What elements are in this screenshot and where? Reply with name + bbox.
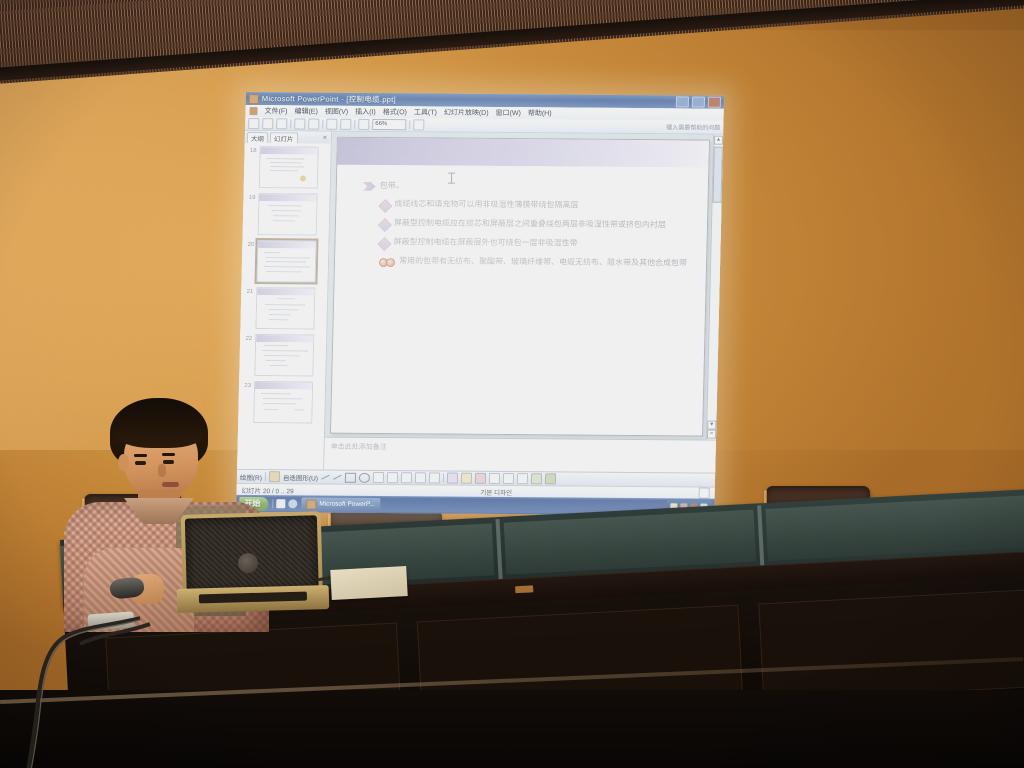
diamond-bullet-icon <box>377 237 391 251</box>
next-slide-icon[interactable]: ≡ <box>707 430 716 439</box>
scrollbar-thumb[interactable] <box>713 147 723 203</box>
powerpoint-icon <box>249 94 259 104</box>
eye-left <box>135 461 146 465</box>
tab-slides[interactable]: 幻灯片 <box>270 132 298 143</box>
restore-button[interactable] <box>692 97 705 108</box>
slide-thumbnail-selected[interactable] <box>257 240 317 282</box>
ask-a-question-box[interactable]: 键入需要帮助的问题 <box>666 122 720 131</box>
show-formatting-icon[interactable] <box>358 119 369 130</box>
rectangle-icon[interactable] <box>345 472 356 482</box>
notes-pane[interactable]: 单击此处添加备注 <box>324 437 716 473</box>
arrow-style-icon[interactable] <box>517 473 528 484</box>
window-title: Microsoft PowerPoint - [控制电缆.ppt] <box>262 93 396 105</box>
list-item[interactable]: 成缆线芯和填充物可以用非吸湿性薄膜带绕包隔离层 <box>380 199 697 213</box>
spell-check-icon[interactable] <box>699 488 710 499</box>
close-button[interactable] <box>708 97 721 108</box>
slide-thumbnail[interactable] <box>258 193 318 235</box>
word-art-icon[interactable] <box>387 472 398 483</box>
table-panel-3 <box>758 588 1024 702</box>
menu-item-slideshow[interactable]: 幻灯片放映(D) <box>444 108 489 118</box>
bullet-text: 成缆线芯和填充物可以用非吸湿性薄膜带绕包隔离层 <box>394 199 578 211</box>
previous-slide-icon[interactable]: ▼ <box>707 421 716 430</box>
bullet-text: 屏蔽型控制电缆在屏蔽层外也可绕包一层非吸湿性带 <box>393 237 577 249</box>
table-pad-3 <box>504 510 756 575</box>
table-badge <box>515 585 533 593</box>
ear <box>118 454 129 471</box>
line-icon[interactable] <box>321 475 329 480</box>
hair-front <box>116 414 204 448</box>
open-icon[interactable] <box>262 118 273 129</box>
eyebrow-right <box>162 453 175 456</box>
menu-item-file[interactable]: 文件(F) <box>264 106 287 116</box>
nose <box>158 464 166 477</box>
taskbar-item-label: Microsoft PowerP... <box>319 501 375 508</box>
line-style-icon[interactable] <box>489 473 500 484</box>
menu-item-insert[interactable]: 插入(I) <box>355 107 376 117</box>
slide-scroll-area: 包带。 成缆线芯和填充物可以用非吸湿性薄膜带绕包隔离层 屏蔽型控制电缆应在缆芯和… <box>325 132 723 440</box>
menu-item-window[interactable]: 窗口(W) <box>495 108 521 118</box>
slide-number: 22 <box>242 334 252 342</box>
arrow-bullet-icon <box>363 182 376 191</box>
toolbar-separator-3 <box>354 120 355 129</box>
clip-art-icon[interactable] <box>415 472 426 483</box>
list-item[interactable]: 19 <box>245 193 328 236</box>
menu-item-tools[interactable]: 工具(T) <box>414 107 437 117</box>
list-item[interactable]: 常用的包带有无纺布、聚酯带、玻璃纤维带、电缆无纺布、阻水带及其他合成包带 <box>379 256 696 269</box>
slide-number: 20 <box>244 240 254 248</box>
autoshapes-menu-button[interactable]: 自迭图形(U) <box>283 472 318 482</box>
toolbar-separator-2 <box>322 120 323 129</box>
list-item[interactable]: 20 <box>244 240 327 283</box>
print-icon[interactable] <box>294 118 305 129</box>
quick-launch-bar <box>272 499 297 508</box>
slide-body-text[interactable]: 包带。 成缆线芯和填充物可以用非吸湿性薄膜带绕包隔离层 屏蔽型控制电缆应在缆芯和… <box>331 165 708 436</box>
new-icon[interactable] <box>248 118 259 129</box>
eyebrow-left <box>134 454 147 457</box>
bullet-text: 常用的包带有无纺布、聚酯带、玻璃纤维带、电缆无纺布、阻水带及其他合成包带 <box>399 256 687 269</box>
diamond-bullet-icon <box>378 199 392 213</box>
slide-thumbnail[interactable] <box>254 334 314 376</box>
list-item[interactable]: 21 <box>242 287 325 330</box>
slide-number: 21 <box>243 287 253 295</box>
minimize-button[interactable] <box>676 96 689 107</box>
help-icon[interactable] <box>413 119 424 130</box>
fill-color-icon[interactable] <box>447 473 458 484</box>
projection-screen: Microsoft PowerPoint - [控制电缆.ppt] 文件(F) … <box>236 92 724 516</box>
close-pane-icon[interactable]: × <box>323 134 329 141</box>
slide-canvas[interactable]: 包带。 成缆线芯和填充物可以用非吸湿性薄膜带绕包隔离层 屏蔽型控制电缆应在缆芯和… <box>330 137 710 437</box>
bullet-text: 包带。 <box>380 181 404 192</box>
notepad[interactable] <box>330 566 407 600</box>
arrow-icon[interactable] <box>333 475 341 480</box>
text-box-icon[interactable] <box>373 472 384 483</box>
undo-icon[interactable] <box>308 118 319 129</box>
toolbar-separator-1 <box>290 119 291 128</box>
menu-item-help[interactable]: 帮助(H) <box>528 108 552 118</box>
oval-icon[interactable] <box>359 472 370 482</box>
slide-number: 19 <box>245 193 255 201</box>
slide-editing-pane: 包带。 成缆线芯和填充物可以用非吸湿性薄膜带绕包隔离层 屏蔽型控制电缆应在缆芯和… <box>324 132 723 473</box>
shadow-style-icon[interactable] <box>531 473 542 484</box>
line-color-icon[interactable] <box>461 473 472 484</box>
list-item[interactable]: 22 <box>241 334 324 377</box>
double-circle-bullet-icon <box>379 258 395 267</box>
thumb-title-band <box>255 382 312 389</box>
slide-title-placeholder[interactable] <box>337 138 709 168</box>
thumb-title-band <box>261 147 318 154</box>
powerpoint-icon <box>306 499 316 509</box>
bullet-text: 屏蔽型控制电缆应在缆芯和屏蔽层之间重叠绕包两层非吸湿性带或挤包内衬层 <box>394 218 666 231</box>
list-item[interactable]: 包带。 <box>363 181 698 194</box>
thumb-title-band <box>258 241 315 248</box>
thumb-title-band <box>259 194 316 201</box>
toolbar-separator-4 <box>409 120 410 129</box>
slide-thumbnail[interactable] <box>255 287 315 329</box>
menu-item-view[interactable]: 视图(V) <box>325 107 349 117</box>
list-item[interactable]: 18 <box>246 146 329 189</box>
list-item[interactable]: 屏蔽型控制电缆应在缆芯和屏蔽层之间重叠绕包两层非吸湿性带或挤包内衬层 <box>380 218 697 232</box>
diamond-bullet-icon <box>378 218 392 232</box>
mouth <box>162 482 179 487</box>
slide-number: 18 <box>247 146 257 154</box>
powerpoint-window: Microsoft PowerPoint - [控制电缆.ppt] 文件(F) … <box>236 92 724 516</box>
document-icon <box>249 107 257 115</box>
zoom-combobox[interactable]: 66% <box>372 119 406 130</box>
diagram-icon[interactable] <box>401 472 412 483</box>
chart-icon[interactable] <box>326 119 337 130</box>
power-brick <box>87 611 134 630</box>
dell-laptop[interactable] <box>175 511 330 613</box>
thumb-title-band <box>256 335 313 342</box>
scroll-up-icon[interactable]: ▲ <box>714 136 723 145</box>
menu-item-edit[interactable]: 编辑(E) <box>294 106 318 116</box>
show-desktop-icon[interactable] <box>276 499 285 508</box>
picture-icon[interactable] <box>429 472 440 483</box>
slide-thumbnail[interactable] <box>259 146 319 188</box>
table-pad-4 <box>765 493 1024 561</box>
table-seam-3 <box>757 505 764 567</box>
pane-tab-strip: 大纲 幻灯片 × <box>245 131 331 144</box>
thumb-title-band <box>257 288 314 295</box>
list-item[interactable]: 屏蔽型控制电缆在屏蔽层外也可绕包一层非吸湿性带 <box>379 237 696 251</box>
conference-room-photo: Microsoft PowerPoint - [控制电缆.ppt] 文件(F) … <box>0 0 1024 768</box>
floor <box>0 690 1024 768</box>
table-seam-2 <box>496 519 503 581</box>
dash-style-icon[interactable] <box>503 473 514 484</box>
titlebar-spacer <box>399 100 673 102</box>
save-icon[interactable] <box>276 118 287 129</box>
drawbar-separator-2 <box>443 474 444 483</box>
font-color-icon[interactable] <box>475 473 486 484</box>
table-icon[interactable] <box>340 119 351 130</box>
tab-outline[interactable]: 大纲 <box>247 132 268 143</box>
eye-right <box>163 460 174 464</box>
slide-number: 23 <box>241 381 251 389</box>
menu-item-format[interactable]: 格式(O) <box>383 107 407 117</box>
ie-icon[interactable] <box>288 499 297 508</box>
editor-workspace: 大纲 幻灯片 × 18 <box>237 131 723 473</box>
taskbar-item-powerpoint[interactable]: Microsoft PowerP... <box>301 497 380 511</box>
3d-style-icon[interactable] <box>545 473 556 484</box>
